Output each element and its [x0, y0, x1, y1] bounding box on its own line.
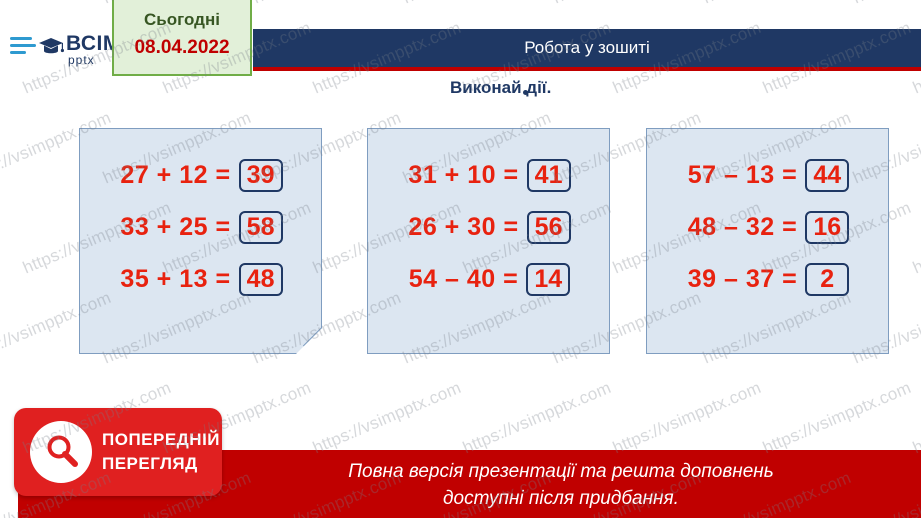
instruction-text: Виконай дії.	[450, 78, 551, 98]
header-accent-line	[253, 67, 921, 71]
answer-box[interactable]: 14	[526, 263, 570, 296]
answer-text: 56	[535, 213, 563, 242]
watermark-text: https://vsimpptx.com	[910, 198, 921, 279]
watermark-text: https://vsimpptx.com	[400, 0, 554, 8]
watermark-text: https://vsimpptx.com	[250, 0, 404, 8]
answer-text: 41	[535, 161, 563, 190]
watermark-text: https://vsimpptx.com	[460, 378, 614, 459]
answer-box[interactable]: 56	[527, 211, 571, 244]
date-badge-label: Сьогодні	[114, 10, 250, 30]
exercise-card: 27 + 12 = 39 33 + 25 = 58 35 + 13 = 48	[79, 128, 322, 354]
answer-box[interactable]: 16	[805, 211, 849, 244]
watermark-text: https://vsimpptx.com	[850, 0, 921, 8]
watermark-text: https://vsimpptx.com	[760, 378, 914, 459]
logo-sub: pptx	[68, 53, 95, 67]
expression-text: 57 – 13 =	[688, 161, 797, 190]
preview-badge-line1: ПОПЕРЕДНІЙ	[102, 428, 220, 452]
expression-text: 54 – 40 =	[409, 265, 518, 294]
preview-badge-text: ПОПЕРЕДНІЙ ПЕРЕГЛЯД	[102, 428, 220, 476]
expression-text: 48 – 32 =	[688, 213, 797, 242]
date-badge-date: 08.04.2022	[114, 37, 250, 59]
watermark-text: https://vsimpptx.com	[550, 0, 704, 8]
exercise-row: 48 – 32 = 16	[647, 201, 890, 253]
exercise-row: 33 + 25 = 58	[80, 201, 323, 253]
expression-text: 31 + 10 =	[408, 161, 518, 190]
answer-text: 16	[813, 213, 841, 242]
exercise-row: 54 – 40 = 14	[368, 253, 611, 305]
expression-text: 27 + 12 =	[120, 161, 230, 190]
answer-box[interactable]: 44	[805, 159, 849, 192]
preview-badge-line2: ПЕРЕГЛЯД	[102, 452, 220, 476]
header-bar: Робота у зошиті	[253, 29, 921, 67]
date-badge: Сьогодні 08.04.2022	[112, 0, 252, 76]
magnifier-icon	[44, 433, 80, 474]
answer-box[interactable]: 58	[239, 211, 283, 244]
answer-text: 2	[820, 265, 834, 294]
exercise-row: 35 + 13 = 48	[80, 253, 323, 305]
expression-text: 33 + 25 =	[120, 213, 230, 242]
expression-text: 39 – 37 =	[688, 265, 797, 294]
answer-box[interactable]: 41	[527, 159, 571, 192]
watermark-text: https://vsimpptx.com	[610, 378, 764, 459]
graduation-cap-icon	[38, 36, 64, 58]
bottom-banner-line2: доступні після придбання.	[211, 485, 911, 512]
exercise-row: 39 – 37 = 2	[647, 253, 890, 305]
answer-text: 58	[247, 213, 275, 242]
exercise-row: 31 + 10 = 41	[368, 149, 611, 201]
expression-text: 26 + 30 =	[408, 213, 518, 242]
header-title: Робота у зошиті	[253, 29, 921, 67]
bottom-banner-line1: Повна версія презентації та решта доповн…	[211, 458, 911, 485]
exercise-row: 27 + 12 = 39	[80, 149, 323, 201]
watermark-text: https://vsimpptx.com	[0, 0, 114, 8]
logo-lines-icon	[10, 37, 36, 61]
expression-text: 35 + 13 =	[120, 265, 230, 294]
answer-box[interactable]: 48	[239, 263, 283, 296]
preview-badge[interactable]: ПОПЕРЕДНІЙ ПЕРЕГЛЯД	[14, 408, 222, 496]
answer-text: 48	[247, 265, 275, 294]
answer-text: 14	[534, 265, 562, 294]
bottom-banner-text: Повна версія презентації та решта доповн…	[211, 458, 911, 512]
exercise-card: 57 – 13 = 44 48 – 32 = 16 39 – 37 = 2	[646, 128, 889, 354]
watermark-text: https://vsimpptx.com	[700, 0, 854, 8]
exercise-row: 57 – 13 = 44	[647, 149, 890, 201]
exercise-row: 26 + 30 = 56	[368, 201, 611, 253]
answer-text: 39	[247, 161, 275, 190]
answer-box[interactable]: 2	[805, 263, 849, 296]
exercise-card: 31 + 10 = 41 26 + 30 = 56 54 – 40 = 14	[367, 128, 610, 354]
answer-text: 44	[813, 161, 841, 190]
watermark-text: https://vsimpptx.com	[310, 378, 464, 459]
answer-box[interactable]: 39	[239, 159, 283, 192]
watermark-text: https://vsimpptx.com	[910, 378, 921, 459]
